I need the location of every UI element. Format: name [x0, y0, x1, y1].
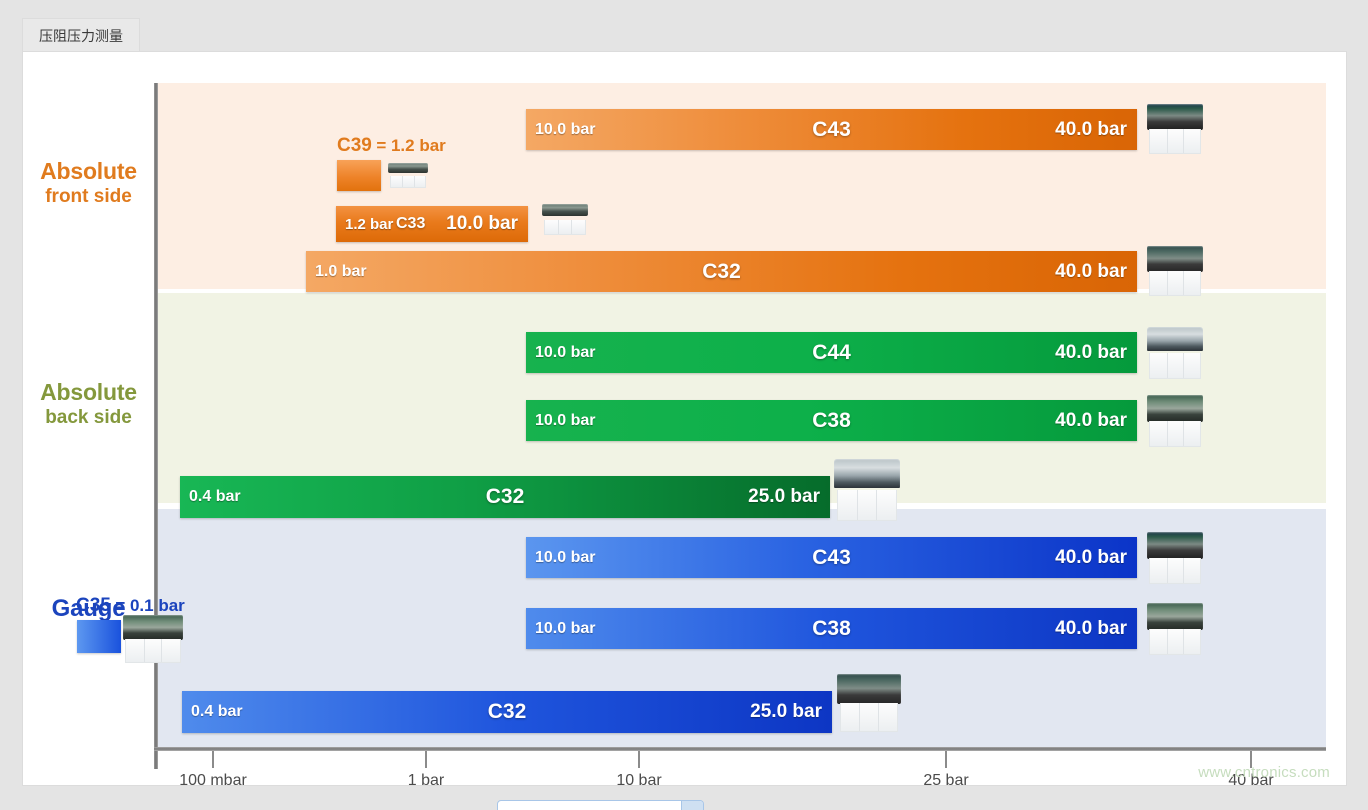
- sensor-thumbnail-c43-front: [1147, 104, 1203, 154]
- section-label-line1: Absolute: [23, 379, 154, 406]
- sensor-base-icon: [1149, 629, 1201, 655]
- tab-strip: 压阻压力测量: [0, 0, 1368, 52]
- bar-max-label: 40.0 bar: [1055, 119, 1127, 141]
- section-label-absolute-front: Absolute front side: [23, 158, 154, 209]
- sensor-thumbnail-c33: [542, 204, 588, 235]
- axis-tick-label-0: 100 mbar: [179, 772, 247, 790]
- sensor-base-icon: [1149, 421, 1201, 447]
- sensor-body-icon: [388, 163, 428, 173]
- sensor-body-icon: [1147, 246, 1203, 272]
- sensor-thumbnail-c38-back: [1147, 395, 1203, 447]
- bar-c43-gauge[interactable]: 10.0 bar C43 40.0 bar: [526, 537, 1137, 578]
- bar-code: C38: [526, 409, 1137, 433]
- bar-c44-absolute-back[interactable]: 10.0 bar C44 40.0 bar: [526, 332, 1137, 373]
- bar-c32-absolute-back[interactable]: 0.4 bar C32 25.0 bar: [180, 476, 830, 518]
- bar-code: C32: [180, 485, 830, 509]
- axis-tick-mark: [212, 751, 214, 768]
- section-label-line2: front side: [23, 185, 154, 209]
- callout-code: C35: [76, 595, 111, 616]
- callout-c35: C35 = 0.1 bar: [76, 595, 185, 617]
- sensor-base-icon: [1149, 558, 1201, 584]
- axis-tick-mark: [425, 751, 427, 768]
- bar-c39-absolute-front[interactable]: [337, 160, 381, 191]
- bar-c38-absolute-back[interactable]: 10.0 bar C38 40.0 bar: [526, 400, 1137, 441]
- bar-max-label: 10.0 bar: [446, 213, 518, 235]
- section-label-absolute-back: Absolute back side: [23, 379, 154, 430]
- bar-code: C43: [526, 546, 1137, 570]
- bar-c32-gauge[interactable]: 0.4 bar C32 25.0 bar: [182, 691, 832, 733]
- sensor-body-icon: [1147, 104, 1203, 130]
- bar-max-label: 40.0 bar: [1055, 410, 1127, 432]
- callout-value: = 0.1 bar: [115, 596, 184, 615]
- bar-code: C32: [306, 260, 1137, 284]
- axis-tick-label-2: 10 bar: [616, 772, 661, 790]
- tab-piezoresistive-pressure[interactable]: 压阻压力测量: [22, 18, 140, 52]
- bar-max-label: 40.0 bar: [1055, 547, 1127, 569]
- sensor-body-icon: [834, 459, 900, 488]
- sensor-thumbnail-c44: [1147, 327, 1203, 379]
- sensor-base-icon: [125, 639, 180, 663]
- sensor-base-icon: [837, 490, 898, 521]
- app-root: 压阻压力测量 Absolute front side Absolute back…: [0, 0, 1368, 810]
- bar-max-label: 25.0 bar: [748, 486, 820, 508]
- sensor-base-icon: [390, 176, 427, 189]
- bar-c38-gauge[interactable]: 10.0 bar C38 40.0 bar: [526, 608, 1137, 649]
- section-label-line1: Absolute: [23, 158, 154, 185]
- bar-code: C32: [182, 700, 832, 724]
- sensor-body-icon: [542, 204, 588, 216]
- callout-value: = 1.2 bar: [376, 136, 445, 155]
- tab-label: 压阻压力测量: [39, 28, 123, 44]
- bar-max-label: 40.0 bar: [1055, 342, 1127, 364]
- bar-max-label: 40.0 bar: [1055, 261, 1127, 283]
- callout-c39: C39 = 1.2 bar: [337, 135, 446, 157]
- axis-tick-label-1: 1 bar: [408, 772, 444, 790]
- sensor-body-icon: [1147, 532, 1203, 559]
- pressure-range-chart: Absolute front side Absolute back side G…: [23, 52, 1348, 787]
- sensor-body-icon: [1147, 603, 1203, 630]
- bar-c43-absolute-front[interactable]: 10.0 bar C43 40.0 bar: [526, 109, 1137, 150]
- section-label-line2: back side: [23, 406, 154, 430]
- sensor-base-icon: [840, 703, 899, 732]
- sensor-thumbnail-c39: [388, 163, 428, 188]
- bar-max-label: 40.0 bar: [1055, 618, 1127, 640]
- sensor-base-icon: [1149, 129, 1201, 154]
- sensor-thumbnail-c38-gauge: [1147, 603, 1203, 655]
- bar-code: C44: [526, 341, 1137, 365]
- sensor-body-icon: [1147, 395, 1203, 422]
- bar-c32-absolute-front[interactable]: 1.0 bar C32 40.0 bar: [306, 251, 1137, 292]
- bar-code: C33: [396, 215, 425, 233]
- axis-tick-mark: [638, 751, 640, 768]
- sensor-base-icon: [544, 220, 586, 236]
- axis-tick-label-3: 25 bar: [923, 772, 968, 790]
- axis-tick-mark: [945, 751, 947, 768]
- sensor-thumbnail-c32-back: [834, 459, 900, 521]
- bottom-dropdown[interactable]: [497, 800, 704, 810]
- bar-c33-absolute-front[interactable]: 1.2 bar C33 10.0 bar: [336, 206, 528, 242]
- bar-code: C43: [526, 118, 1137, 142]
- sensor-body-icon: [837, 674, 901, 704]
- x-axis-line: [154, 747, 1326, 751]
- sensor-thumbnail-c35: [123, 615, 183, 663]
- sensor-base-icon: [1149, 271, 1201, 296]
- bar-min-label: 1.2 bar: [345, 216, 393, 233]
- sensor-thumbnail-c43-gauge: [1147, 532, 1203, 584]
- sensor-thumbnail-c32-gauge: [837, 674, 901, 732]
- sensor-body-icon: [1147, 327, 1203, 351]
- chevron-down-icon[interactable]: [681, 801, 703, 810]
- content-card: Absolute front side Absolute back side G…: [22, 51, 1347, 786]
- sensor-thumbnail-c32-front: [1147, 246, 1203, 296]
- y-axis-line: [154, 83, 158, 769]
- bar-c35-gauge[interactable]: [77, 620, 121, 653]
- callout-code: C39: [337, 135, 372, 156]
- bar-code: C38: [526, 617, 1137, 641]
- sensor-base-icon: [1149, 353, 1201, 379]
- bar-max-label: 25.0 bar: [750, 701, 822, 723]
- sensor-body-icon: [123, 615, 183, 640]
- watermark: www.cntronics.com: [1198, 764, 1330, 781]
